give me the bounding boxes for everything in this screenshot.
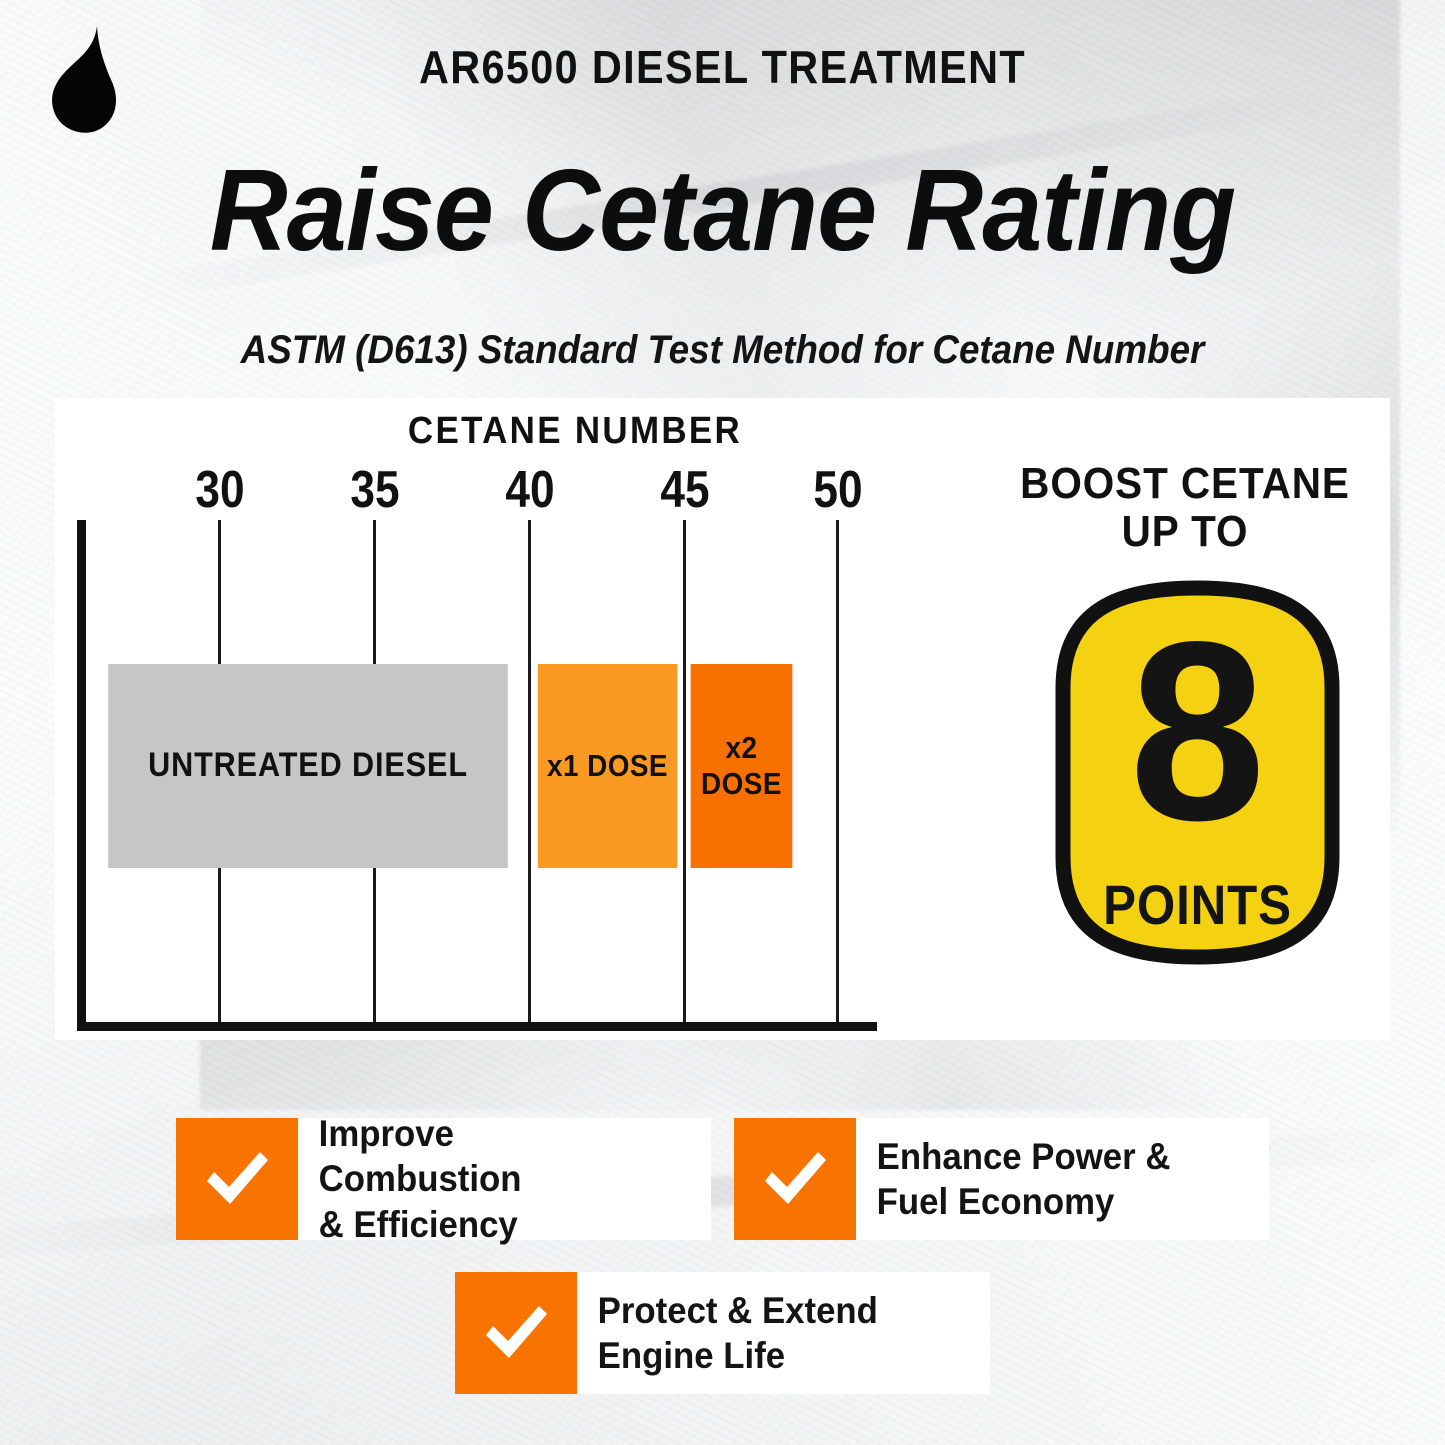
y-axis-line (77, 520, 86, 1030)
check-icon (455, 1272, 577, 1394)
bar-segment-x1-dose: x1 DOSE (538, 664, 678, 868)
cetane-bar: UNTREATED DIESEL x1 DOSE x2 DOSE (86, 664, 798, 868)
check-icon (734, 1118, 856, 1240)
bar-segment-untreated-diesel: UNTREATED DIESEL (108, 664, 508, 868)
infographic-page: AR6500 DIESEL TREATMENT Raise Cetane Rat… (0, 0, 1445, 1445)
boost-points-badge: 8 POINTS (1055, 580, 1340, 965)
boost-caption-line2: UP TO (1122, 507, 1249, 556)
benefit-card-2: Enhance Power & Fuel Economy (734, 1118, 1269, 1240)
x-axis-line (77, 1022, 877, 1031)
chart-title: CETANE NUMBER (354, 410, 796, 453)
page-title: Raise Cetane Rating (51, 150, 1395, 272)
benefit-card-3: Protect & Extend Engine Life (455, 1272, 990, 1394)
product-eyebrow: AR6500 DIESEL TREATMENT (72, 40, 1373, 94)
benefit-label-2: Enhance Power & Fuel Economy (856, 1118, 1244, 1240)
page-subtitle: ASTM (D613) Standard Test Method for Cet… (58, 328, 1387, 373)
bar-segment-x2-dose: x2 DOSE (691, 664, 793, 868)
x-tick-label-40: 40 (492, 460, 569, 520)
x-tick-label-45: 45 (647, 460, 724, 520)
benefit-label-1: Improve Combustion & Efficiency (298, 1118, 686, 1240)
gridline-50 (836, 520, 839, 1028)
boost-caption: BOOST CETANE UP TO (1001, 460, 1369, 555)
x-tick-label-35: 35 (337, 460, 414, 520)
chart-panel: CETANE NUMBER 30 35 40 45 50 UNTREATED D… (55, 398, 1390, 1040)
boost-points-number: 8 (1061, 604, 1335, 859)
x-tick-label-30: 30 (182, 460, 259, 520)
check-icon (176, 1118, 298, 1240)
boost-points-label: POINTS (1072, 872, 1323, 937)
x-tick-label-50: 50 (800, 460, 877, 520)
benefit-label-3: Protect & Extend Engine Life (577, 1272, 965, 1394)
boost-caption-line1: BOOST CETANE (1020, 459, 1350, 508)
benefit-card-1: Improve Combustion & Efficiency (176, 1118, 711, 1240)
